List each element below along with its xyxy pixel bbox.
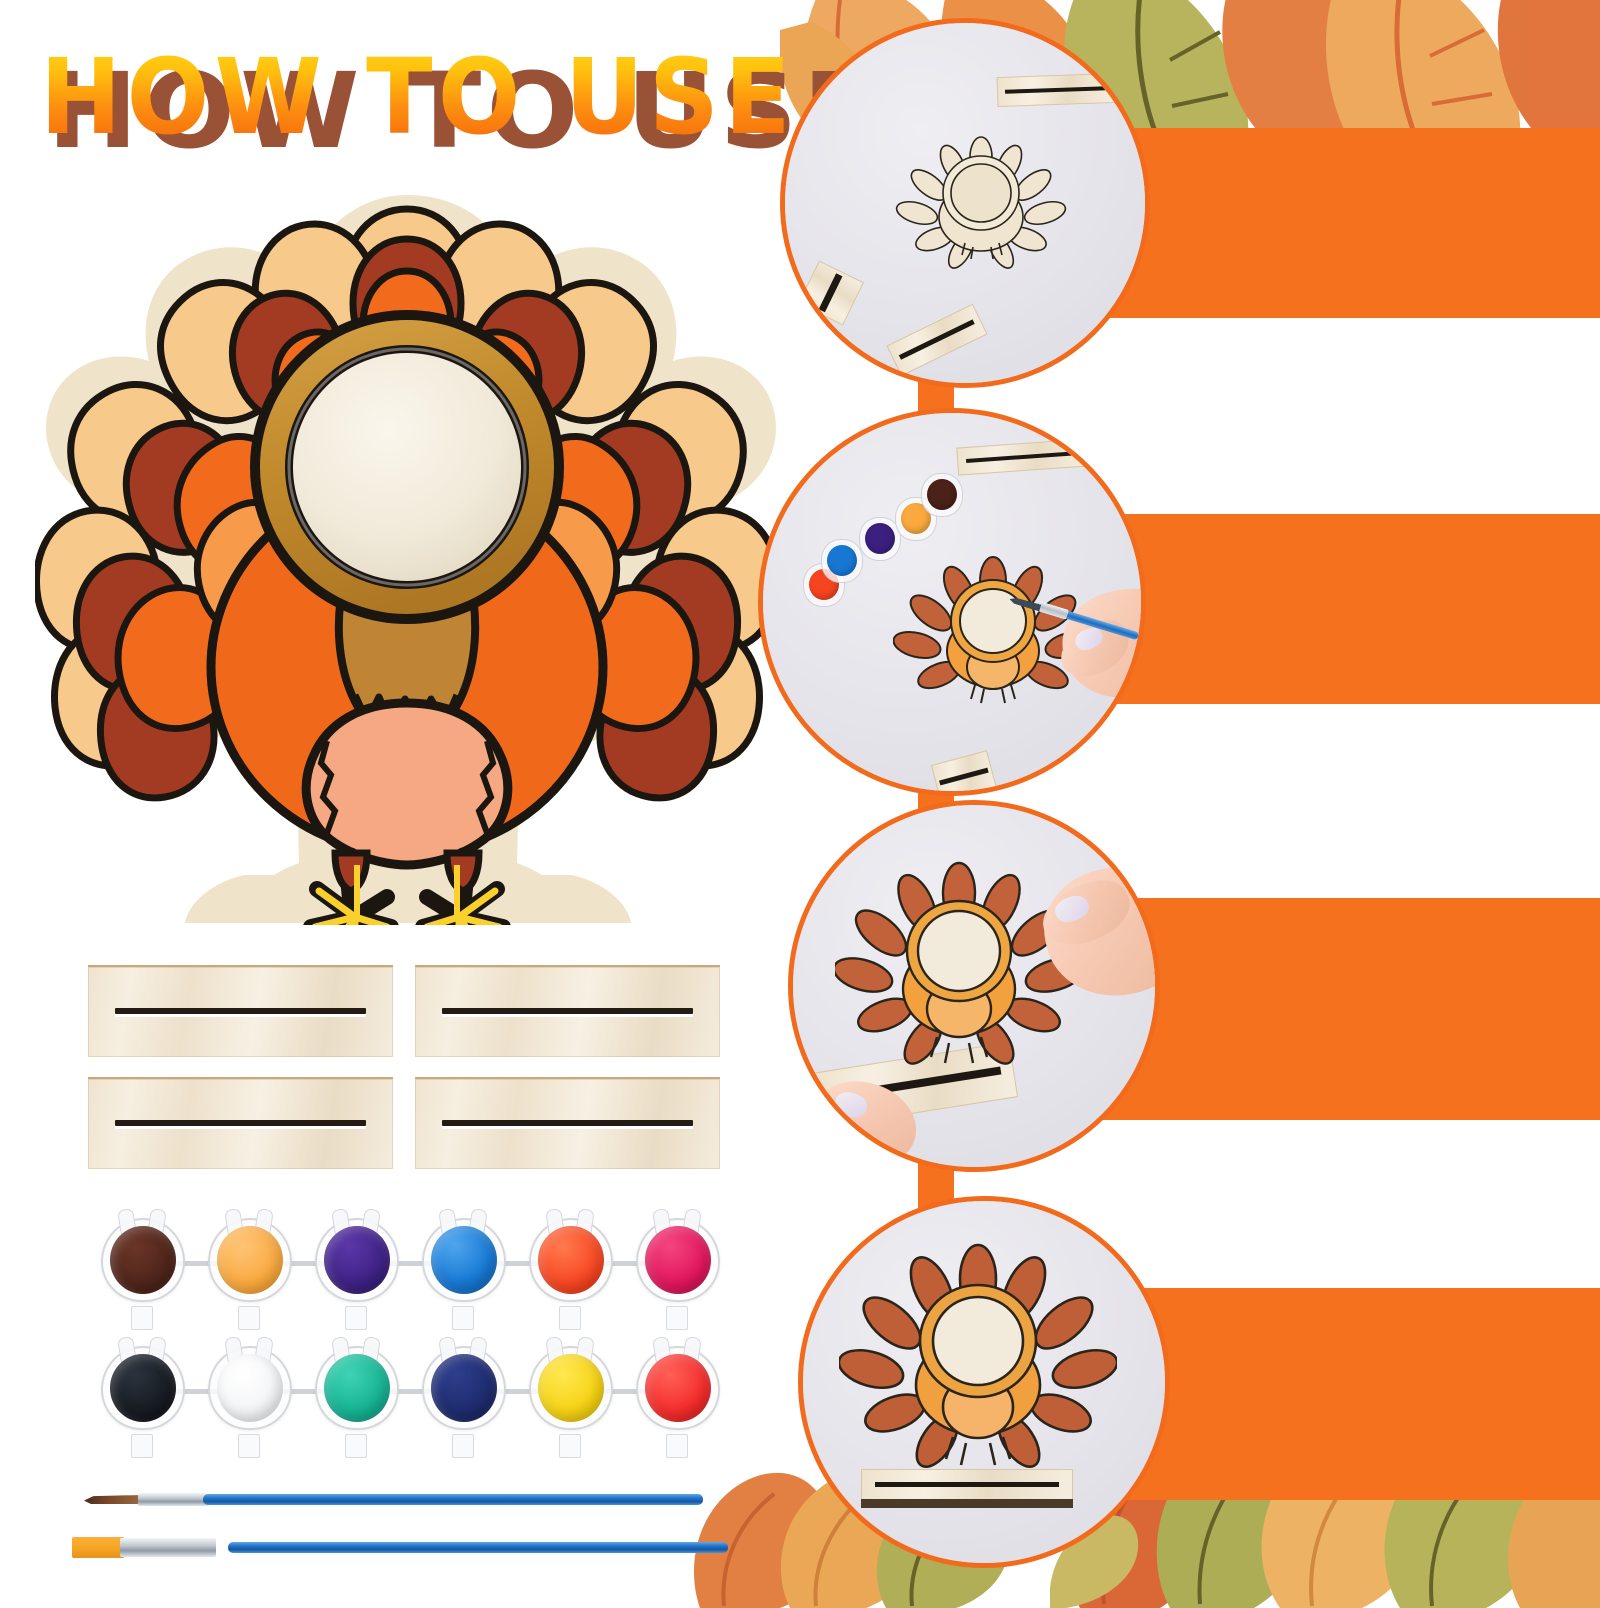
paint-row-bottom xyxy=(95,1340,735,1440)
paint-pot-blue xyxy=(416,1212,512,1312)
mini-paint-pot-blue xyxy=(821,539,863,583)
wooden-base-stand xyxy=(415,965,720,1057)
paint-row-top xyxy=(95,1212,735,1312)
photo-frame-ring xyxy=(255,315,559,619)
paint-pot-orange xyxy=(202,1212,298,1312)
finished-mini-turkey xyxy=(839,1239,1117,1491)
paintbrush-flat-tip xyxy=(68,1535,728,1561)
brush-bristles xyxy=(84,1495,142,1504)
brush-handle xyxy=(203,1494,703,1505)
painted-mini-turkey xyxy=(835,857,1083,1085)
wooden-base-stand xyxy=(88,1077,393,1169)
unpainted-mini-turkey xyxy=(895,131,1067,271)
step-1-photo xyxy=(780,18,1150,388)
paint-pot-black xyxy=(95,1340,191,1440)
wood-base-piece xyxy=(997,73,1116,107)
brush-bristles xyxy=(72,1537,124,1558)
wooden-base-stand xyxy=(415,1077,720,1169)
wood-base-piece xyxy=(861,1469,1073,1503)
wooden-base-stand-group xyxy=(88,965,728,1180)
paint-pot-magenta xyxy=(630,1212,726,1312)
paint-pot-white xyxy=(202,1340,298,1440)
paint-pot-red xyxy=(630,1340,726,1440)
paint-pot-yellow xyxy=(523,1340,619,1440)
step-2-photo xyxy=(758,408,1146,796)
brush-handle xyxy=(228,1542,728,1553)
brush-ferrule xyxy=(138,1493,208,1506)
paint-pot-red-orange xyxy=(523,1212,619,1312)
page-title: HOW TO USE HOW TO USE xyxy=(40,38,780,158)
paint-pot-set xyxy=(95,1212,735,1462)
brush-ferrule xyxy=(120,1538,216,1557)
infographic-canvas: HOW TO USE HOW TO USE xyxy=(0,0,1600,1600)
paint-pot-navy xyxy=(416,1340,512,1440)
paintbrush-round-tip xyxy=(78,1487,703,1513)
paint-pot-dark-brown xyxy=(95,1212,191,1312)
mini-paint-pot-dark-brown xyxy=(921,473,963,517)
step-4-photo xyxy=(798,1196,1170,1568)
hero-turkey-photo-frame xyxy=(35,175,780,925)
wooden-base-stand xyxy=(88,965,393,1057)
paintbrush-set xyxy=(60,1483,760,1588)
page-title-text: HOW TO USE xyxy=(40,38,810,156)
paint-pot-teal xyxy=(309,1340,405,1440)
step-3-photo xyxy=(788,800,1160,1172)
steps-column: STEP 1 Remove the necessary accessories. xyxy=(740,0,1600,1600)
paint-pot-purple xyxy=(309,1212,405,1312)
